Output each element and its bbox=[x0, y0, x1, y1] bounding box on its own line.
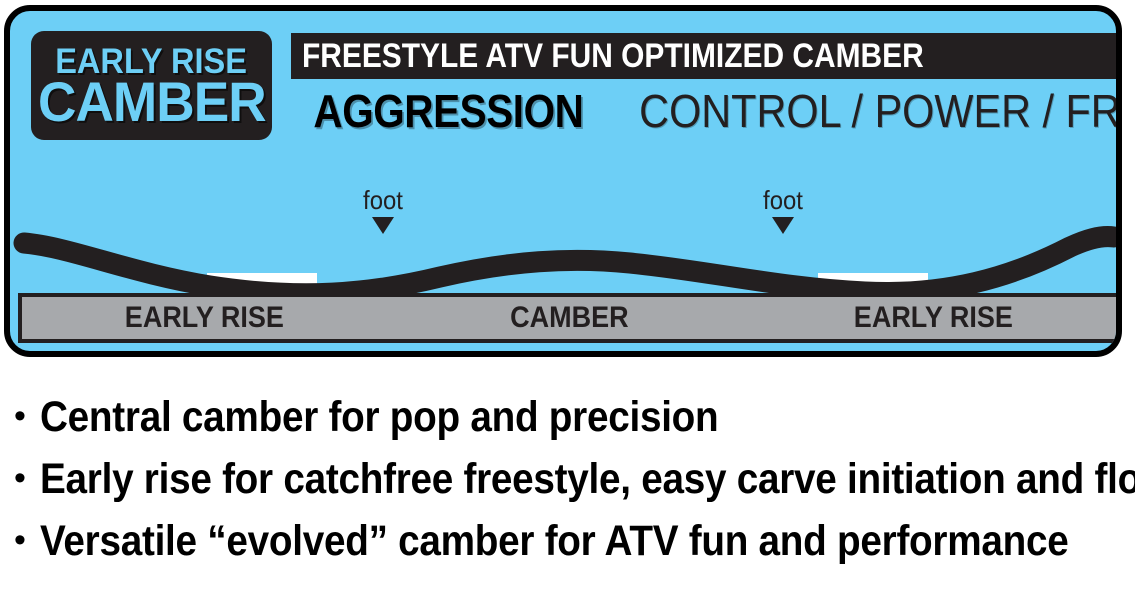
foot-label: foot bbox=[342, 187, 425, 213]
header-text-block: FREESTYLE ATV FUN OPTIMIZED CAMBER AGGRE… bbox=[291, 33, 1119, 135]
bullet-marker-icon: • bbox=[0, 516, 40, 564]
foot-label: foot bbox=[742, 187, 825, 213]
logo-line-camber: CAMBER bbox=[38, 75, 266, 129]
header-attributes-label: CONTROL / POWER / FREEDOM bbox=[639, 87, 1122, 135]
list-item: • Central camber for pop and precision bbox=[0, 392, 1135, 454]
header-aggression-label: AGGRESSION bbox=[313, 87, 583, 135]
bullet-text: Early rise for catchfree freestyle, easy… bbox=[40, 454, 1135, 504]
list-item: • Versatile “evolved” camber for ATV fun… bbox=[0, 516, 1135, 578]
zone-label-early-rise-left: EARLY RISE bbox=[40, 303, 368, 333]
zone-label-camber: CAMBER bbox=[405, 303, 733, 333]
infographic-sheet: EARLY RISE CAMBER FREESTYLE ATV FUN OPTI… bbox=[0, 0, 1135, 600]
bullet-text: Central camber for pop and precision bbox=[40, 392, 718, 442]
feature-bullet-list: • Central camber for pop and precision •… bbox=[0, 392, 1135, 578]
camber-info-panel: EARLY RISE CAMBER FREESTYLE ATV FUN OPTI… bbox=[4, 5, 1122, 357]
header-dark-bar: FREESTYLE ATV FUN OPTIMIZED CAMBER bbox=[291, 33, 1119, 79]
list-item: • Early rise for catchfree freestyle, ea… bbox=[0, 454, 1135, 516]
triangle-down-icon bbox=[372, 217, 394, 234]
foot-marker-right: foot bbox=[738, 187, 828, 234]
header-subtitle-row: AGGRESSION CONTROL / POWER / FREEDOM bbox=[291, 87, 1119, 135]
foot-marker-left: foot bbox=[338, 187, 428, 234]
triangle-down-icon bbox=[772, 217, 794, 234]
bullet-text: Versatile “evolved” camber for ATV fun a… bbox=[40, 516, 1068, 566]
board-profile-line bbox=[24, 237, 1114, 294]
right-contact-patch bbox=[818, 273, 928, 295]
header-bar-label: FREESTYLE ATV FUN OPTIMIZED CAMBER bbox=[302, 39, 924, 73]
bullet-marker-icon: • bbox=[0, 392, 40, 440]
early-rise-camber-logo-badge: EARLY RISE CAMBER bbox=[31, 31, 272, 140]
bullet-marker-icon: • bbox=[0, 454, 40, 502]
zone-label-early-rise-right: EARLY RISE bbox=[770, 303, 1098, 333]
left-contact-patch bbox=[207, 273, 317, 295]
zone-legend-bar: EARLY RISE CAMBER EARLY RISE bbox=[18, 293, 1120, 343]
